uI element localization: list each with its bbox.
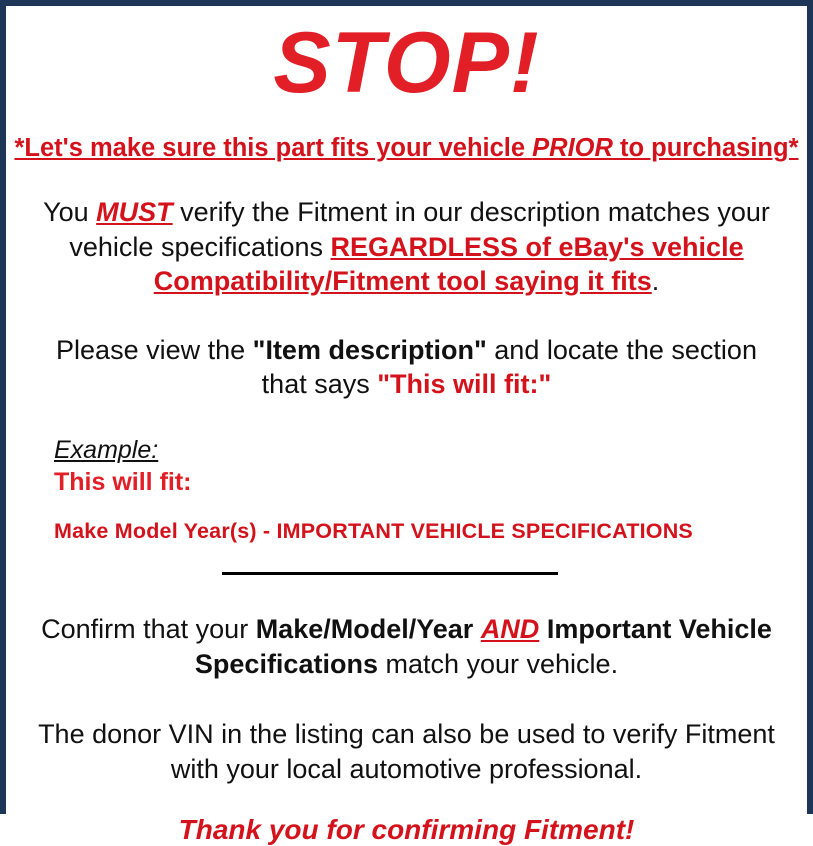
subtitle-text-before: *Let's make sure this part fits your veh… (14, 134, 532, 162)
page-title: STOP! (6, 20, 807, 106)
horizontal-divider (222, 572, 558, 575)
example-label: Example: (54, 436, 158, 465)
example-block: Example: This will fit: Make Model Year(… (6, 436, 807, 545)
example-spec-line: Make Model Year(s) - IMPORTANT VEHICLE S… (54, 519, 807, 545)
must-emphasis: MUST (96, 197, 173, 227)
confirm-seg-3 (539, 614, 547, 644)
this-will-fit-emphasis: "This will fit:" (377, 369, 551, 399)
thank-you-message: Thank you for confirming Fitment! (6, 813, 807, 846)
subtitle-emphasis-prior: PRIOR (532, 134, 613, 162)
paragraph-must-verify: You MUST verify the Fitment in our descr… (6, 195, 807, 299)
desc-seg-1: Please view the (56, 335, 253, 365)
item-description-emphasis: "Item description" (253, 335, 487, 365)
paragraph-confirm: Confirm that your Make/Model/Year AND Im… (6, 612, 807, 681)
paragraph-donor-vin: The donor VIN in the listing can also be… (6, 717, 807, 786)
fitment-notice-card: STOP! *Let's make sure this part fits yo… (0, 0, 813, 814)
must-seg-1: You (43, 197, 96, 227)
confirm-seg-2 (473, 614, 481, 644)
notice-inner-content: STOP! *Let's make sure this part fits yo… (6, 20, 807, 822)
confirm-seg-4: match your vehicle. (378, 649, 618, 679)
example-fit-heading: This will fit: (54, 467, 807, 497)
subtitle-text-after: to purchasing* (613, 134, 799, 162)
paragraph-item-description: Please view the "Item description" and l… (6, 333, 807, 402)
and-emphasis: AND (481, 614, 540, 644)
make-model-year-emphasis: Make/Model/Year (256, 614, 474, 644)
subtitle-banner: *Let's make sure this part fits your veh… (6, 134, 807, 162)
divider-wrapper (6, 568, 807, 582)
confirm-seg-1: Confirm that your (41, 614, 256, 644)
must-seg-3: . (652, 266, 660, 296)
